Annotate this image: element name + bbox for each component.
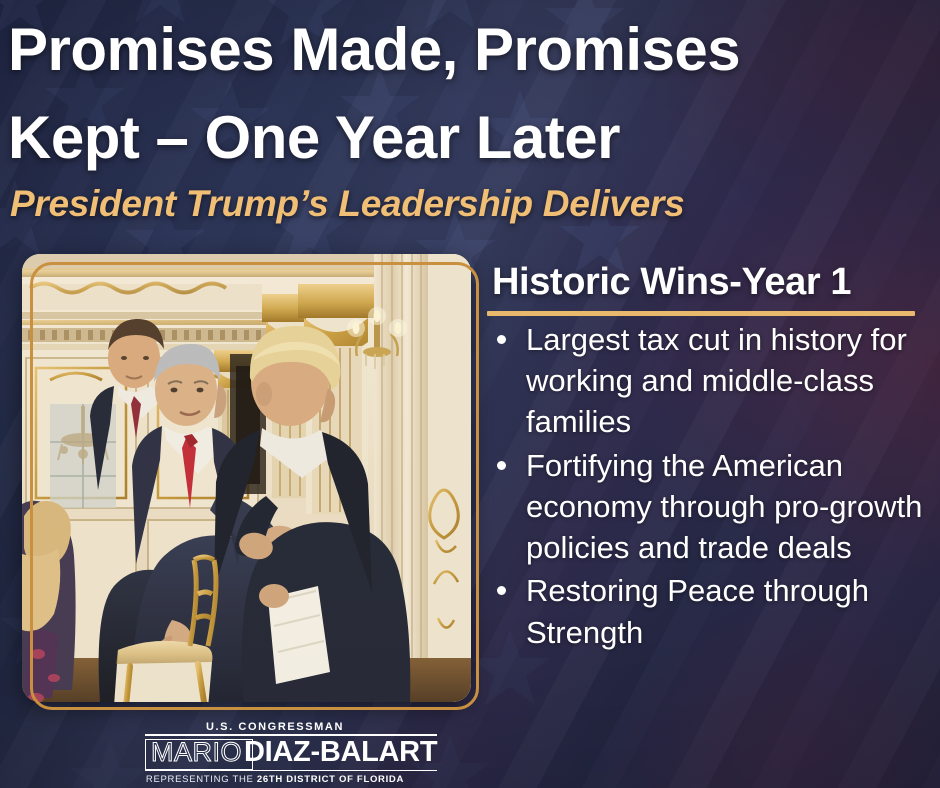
faint-watermark bbox=[735, 734, 925, 751]
logo-district-line: REPRESENTING THE 26TH DISTRICT OF FLORID… bbox=[145, 774, 405, 785]
bullet-dot-icon bbox=[497, 586, 506, 595]
logo-district-bold: 26TH DISTRICT OF FLORIDA bbox=[257, 774, 404, 785]
poster-graphic: Promises Made, Promises Kept – One Year … bbox=[0, 0, 940, 788]
page-title: Promises Made, Promises Kept – One Year … bbox=[8, 6, 940, 181]
logo-first-name-box bbox=[145, 739, 253, 770]
logo-name-block: MARIODIAZ-BALART bbox=[145, 735, 437, 770]
congressman-logo: U.S. CONGRESSMAN MARIODIAZ-BALART REPRES… bbox=[145, 721, 405, 785]
logo-first-name: MARIO bbox=[145, 737, 244, 768]
logo-rule-top bbox=[145, 734, 437, 736]
section-heading-underline bbox=[487, 311, 915, 316]
feature-photo bbox=[22, 254, 471, 702]
photo-illustration bbox=[22, 254, 471, 702]
logo-title-line: U.S. CONGRESSMAN bbox=[145, 721, 405, 733]
section-heading: Historic Wins-Year 1 bbox=[492, 261, 932, 304]
list-item: Fortifying the American economy through … bbox=[492, 445, 934, 569]
bullet-dot-icon bbox=[497, 335, 506, 344]
list-item-label: Fortifying the American economy through … bbox=[526, 448, 922, 565]
page-subtitle: President Trump’s Leadership Delivers bbox=[10, 183, 930, 225]
list-item: Largest tax cut in history for working a… bbox=[492, 319, 934, 443]
list-item: Restoring Peace through Strength bbox=[492, 570, 934, 652]
wins-list: Largest tax cut in history for working a… bbox=[492, 319, 934, 655]
logo-last-name: DIAZ-BALART bbox=[244, 736, 437, 769]
list-item-label: Restoring Peace through Strength bbox=[526, 573, 869, 649]
bullet-dot-icon bbox=[497, 461, 506, 470]
list-item-label: Largest tax cut in history for working a… bbox=[526, 322, 907, 439]
logo-district-prefix: REPRESENTING THE bbox=[146, 774, 257, 785]
